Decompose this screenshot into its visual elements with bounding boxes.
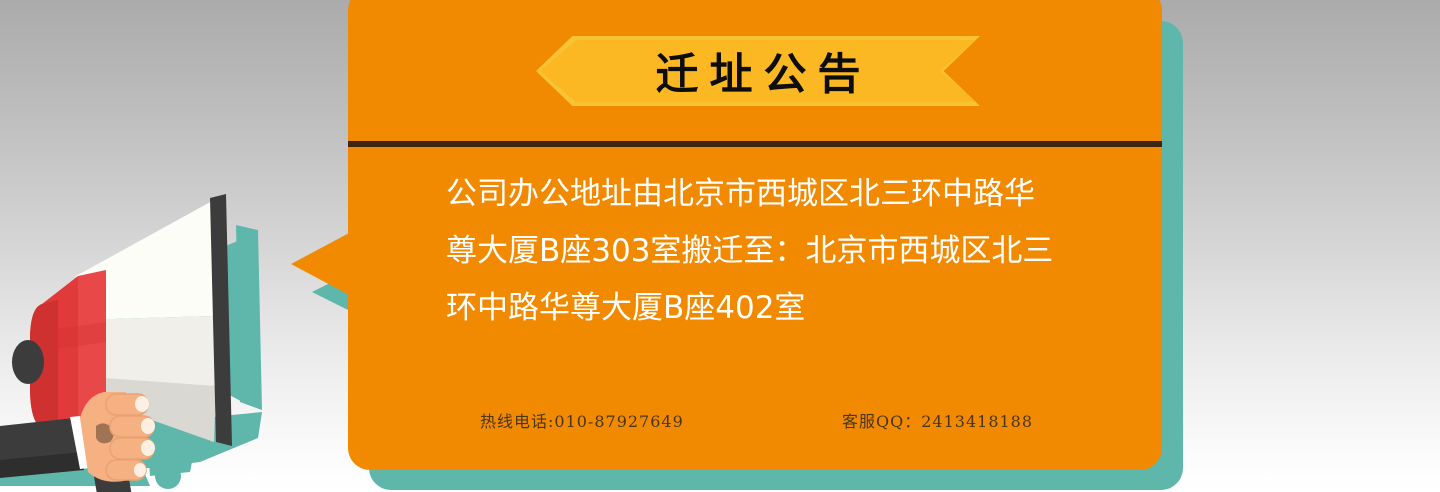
title-ribbon: 迁址公告 [536, 36, 980, 106]
hotline-text: 热线电话:010-87927649 [446, 408, 842, 432]
bubble-tail [291, 232, 351, 296]
contact-row: 热线电话:010-87927649 客服QQ：2413418188 [446, 408, 1106, 432]
announcement-banner: 迁址公告 公司办公地址由北京市西城区北三环中路华 尊大厦B座303室搬迁至：北京… [0, 0, 1440, 492]
body-line-3: 环中路华尊大厦B座402室 [446, 280, 1106, 337]
header-divider [348, 141, 1162, 147]
body-line-1: 公司办公地址由北京市西城区北三环中路华 [446, 166, 1106, 223]
qq-text: 客服QQ：2413418188 [842, 408, 1106, 432]
body-line-2: 尊大厦B座303室搬迁至：北京市西城区北三 [446, 223, 1106, 280]
megaphone-illustration [0, 180, 330, 492]
page-title: 迁址公告 [536, 36, 980, 106]
announcement-body: 公司办公地址由北京市西城区北三环中路华 尊大厦B座303室搬迁至：北京市西城区北… [446, 166, 1106, 337]
